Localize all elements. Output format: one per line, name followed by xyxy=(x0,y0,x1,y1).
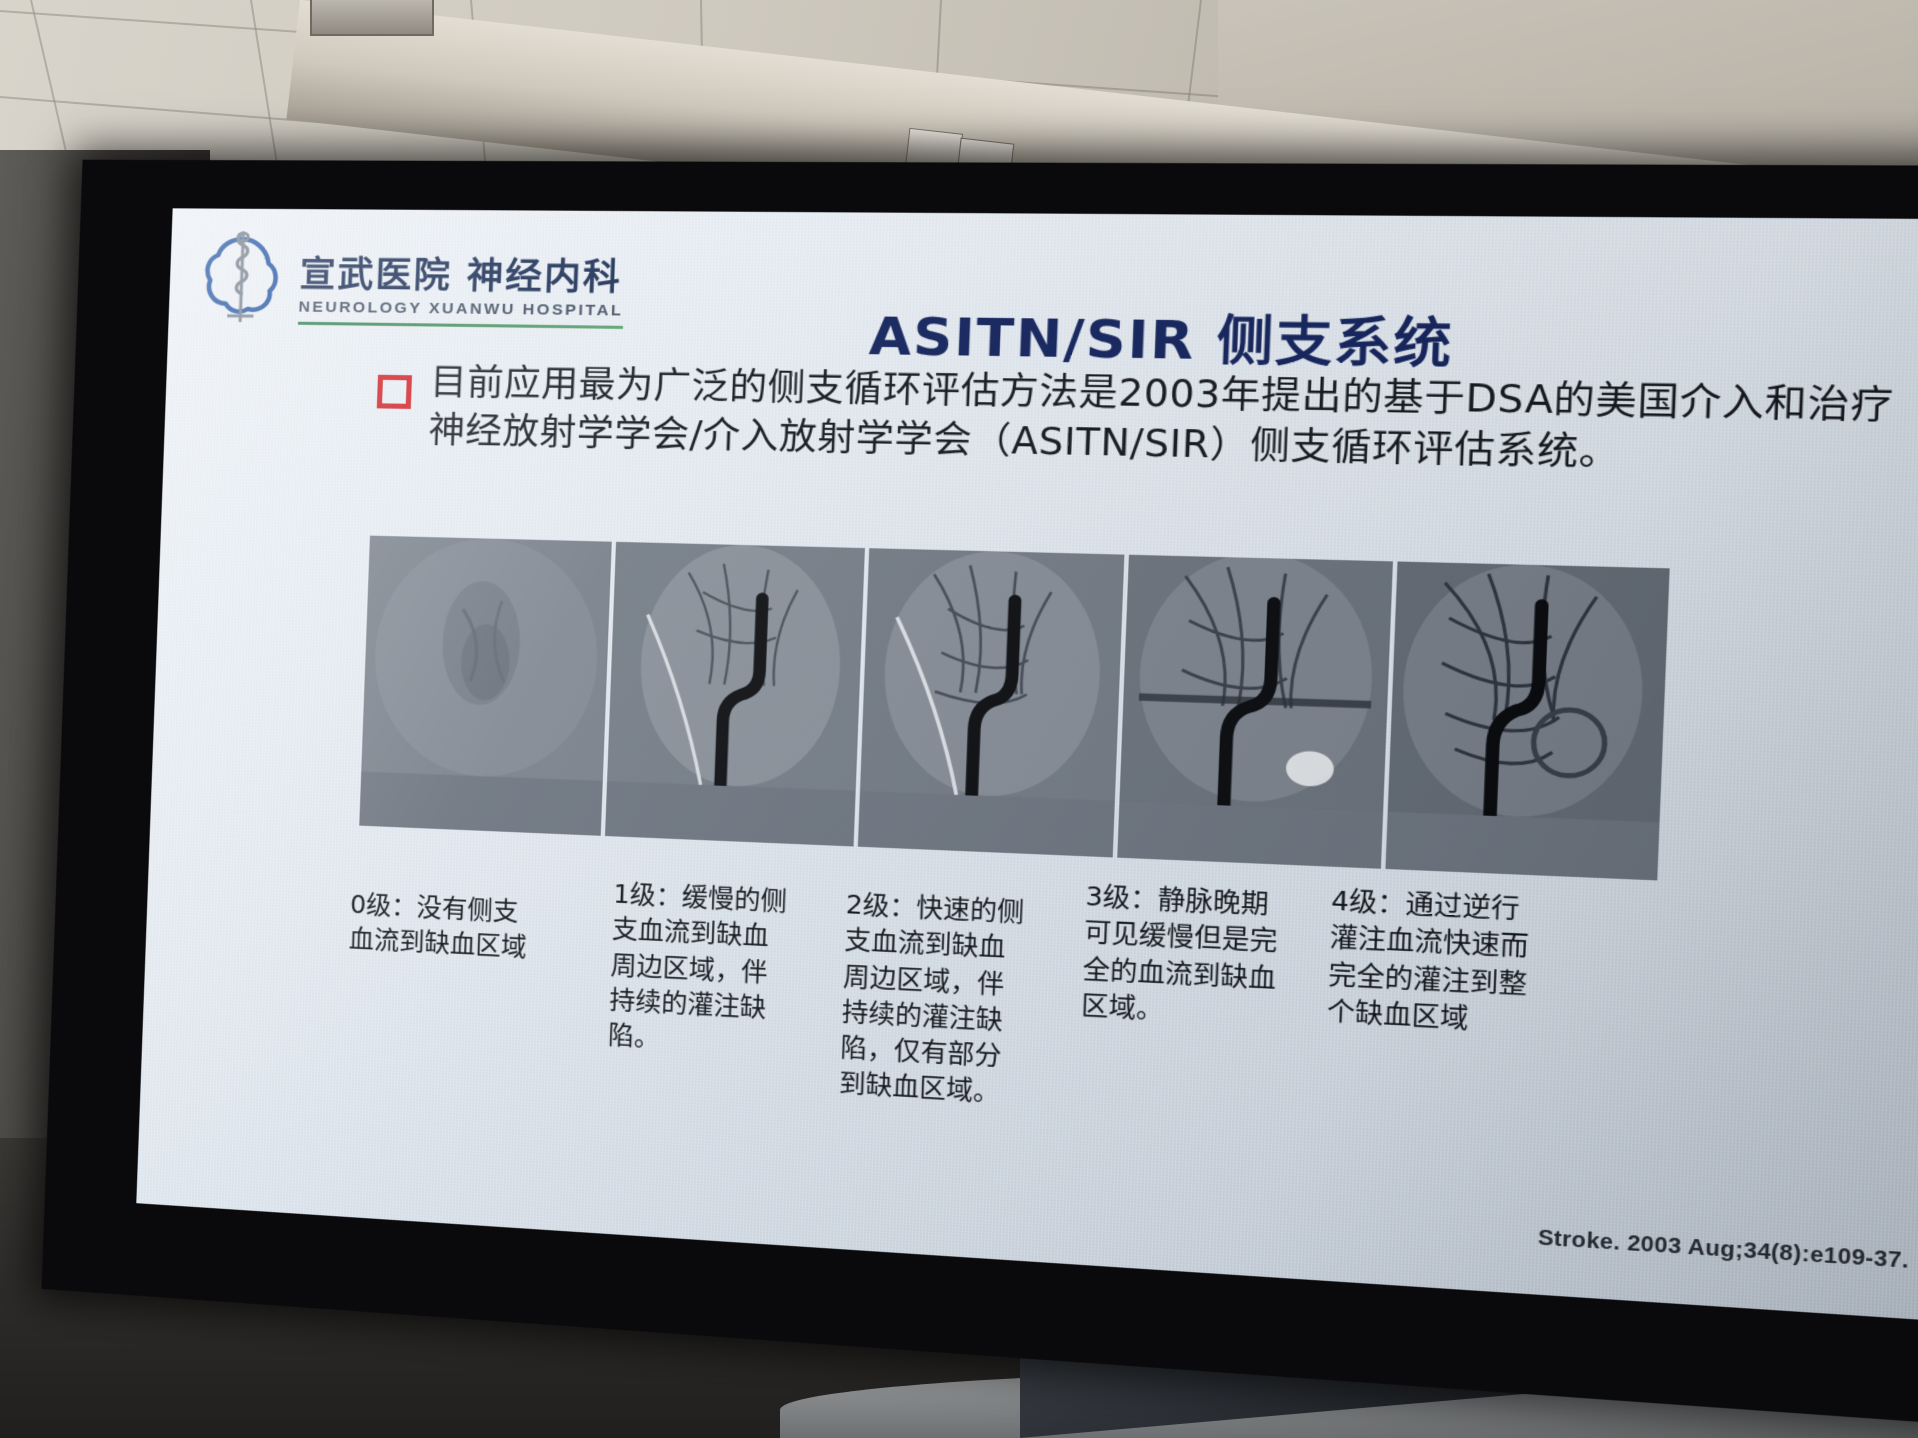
bullet-paragraph: 目前应用最为广泛的侧支循环评估方法是2003年提出的基于DSA的美国介入和治疗神… xyxy=(375,358,1918,485)
red-square-bullet-icon xyxy=(377,375,412,409)
ceiling-vent xyxy=(310,0,434,36)
citation-text: Stroke. 2003 Aug;34(8):e109-37. xyxy=(1537,1226,1909,1274)
caption-grade-3: 3级：静脉晚期 可见缓慢但是完 全的血流到缺血 区域。 xyxy=(1077,872,1332,1129)
dsa-grade-2-image xyxy=(857,548,1124,857)
presentation-slide[interactable]: 宣武医院 神经内科 NEUROLOGY XUANWU HOSPITAL ASIT… xyxy=(136,208,1918,1322)
caption-grade-2: 2级：快速的侧 支血流到缺血 周边区域，伴 持续的灌注缺 陷，仅有部分 到缺血区… xyxy=(838,862,1086,1116)
dsa-grade-0-image xyxy=(359,536,611,836)
logo-underline xyxy=(298,322,623,329)
caption-grade-0: 0级：没有侧支 血流到缺血区域 xyxy=(344,841,615,1089)
dsa-grade-4-image xyxy=(1386,562,1670,881)
caption-grade-1: 1级：缓慢的侧 支血流到缺血 周边区域，伴 持续的灌注缺 陷。 xyxy=(606,852,847,1102)
caption-row: 0级：没有侧支 血流到缺血区域 1级：缓慢的侧 支血流到缺血 周边区域，伴 持续… xyxy=(344,841,1673,1150)
dsa-grade-1-image xyxy=(605,542,865,847)
led-display[interactable]: 宣武医院 神经内科 NEUROLOGY XUANWU HOSPITAL ASIT… xyxy=(41,160,1918,1430)
brain-caduceus-icon xyxy=(197,231,287,325)
logo-chinese-text: 宣武医院 神经内科 xyxy=(299,257,625,298)
logo-english-text: NEUROLOGY XUANWU HOSPITAL xyxy=(298,298,623,320)
dsa-image-strip xyxy=(359,536,1669,881)
caption-grade-4: 4级：通过逆行 灌注血流快速而 完全的灌注到整 个缺血区域 xyxy=(1322,883,1637,1147)
dsa-grade-3-image xyxy=(1118,555,1394,869)
room-photo: 宣武医院 神经内科 NEUROLOGY XUANWU HOSPITAL ASIT… xyxy=(0,0,1918,1438)
hospital-logo: 宣武医院 神经内科 NEUROLOGY XUANWU HOSPITAL xyxy=(197,231,627,329)
bullet-text: 目前应用最为广泛的侧支循环评估方法是2003年提出的基于DSA的美国介入和治疗神… xyxy=(428,359,1918,485)
